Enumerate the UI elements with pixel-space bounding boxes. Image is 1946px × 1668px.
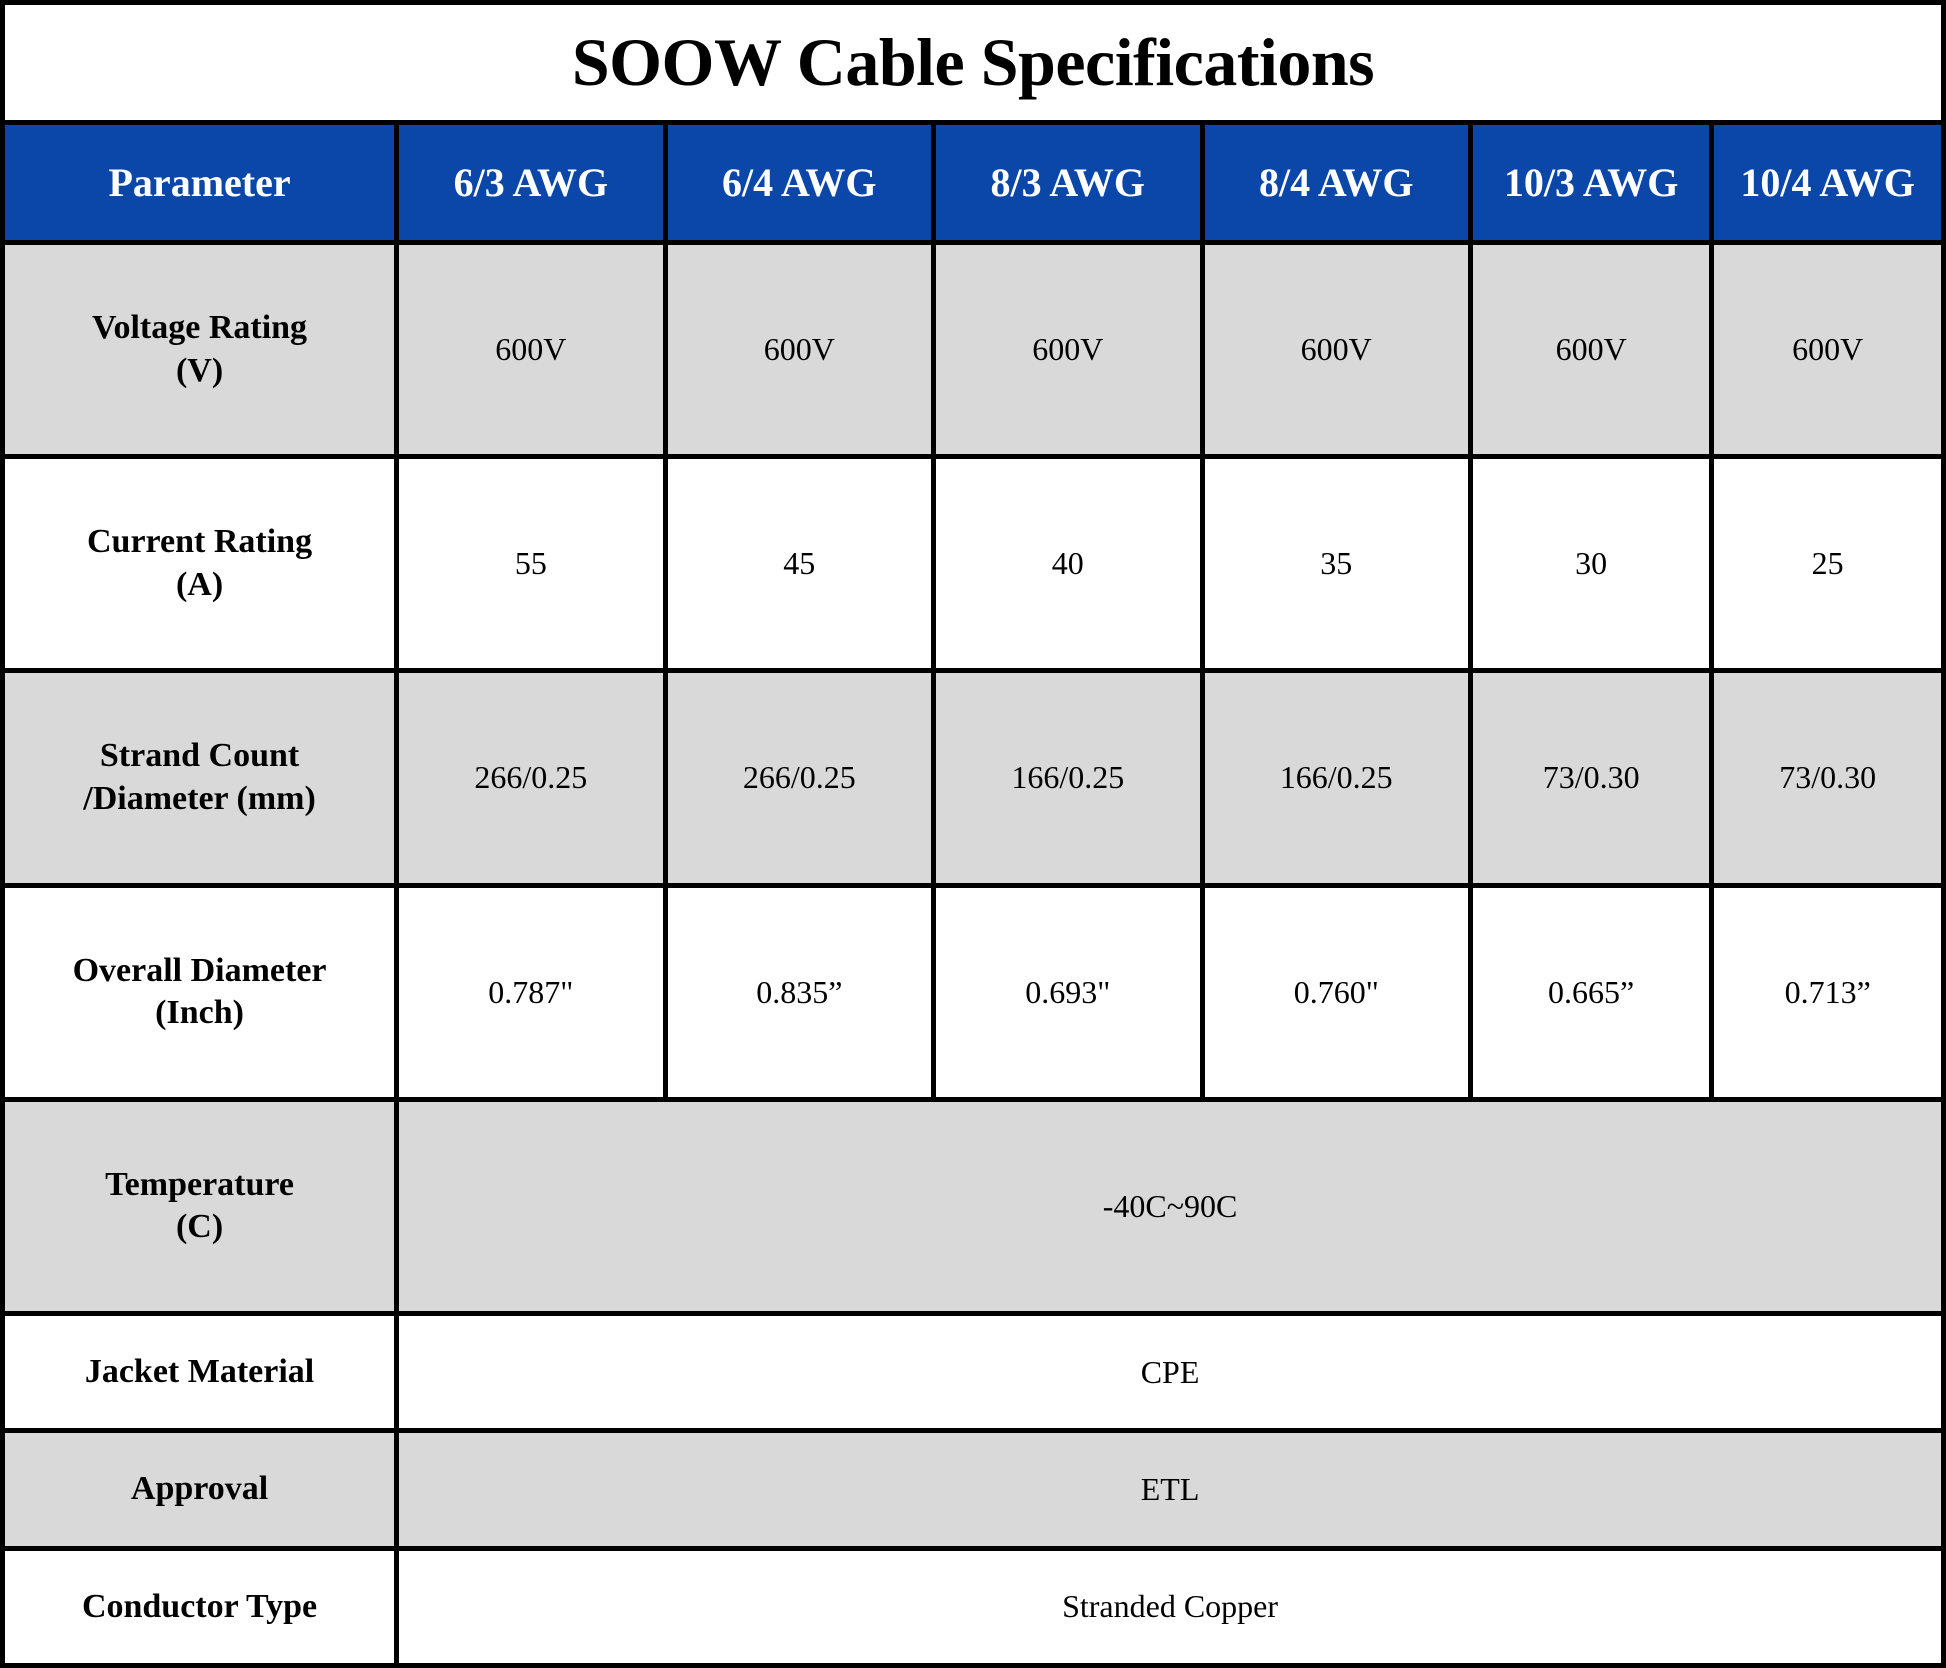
cell-strand-8-3: 166/0.25: [934, 671, 1202, 885]
column-header-8-4-awg: 8/4 AWG: [1202, 123, 1470, 243]
row-label-approval: Approval: [3, 1431, 397, 1548]
page-root: SOOW Cable Specifications Parameter 6/3 …: [0, 0, 1946, 1668]
column-header-10-3-awg: 10/3 AWG: [1470, 123, 1711, 243]
row-label-line1: Overall Diameter: [9, 950, 390, 993]
row-label-temperature: Temperature (C): [3, 1099, 397, 1313]
cell-jacket-merged: CPE: [397, 1313, 1944, 1430]
cell-strand-6-4: 266/0.25: [665, 671, 933, 885]
table-row: Voltage Rating (V) 600V 600V 600V 600V 6…: [3, 243, 1944, 457]
row-label-voltage-rating: Voltage Rating (V): [3, 243, 397, 457]
page-title: SOOW Cable Specifications: [3, 3, 1944, 123]
cell-voltage-6-4: 600V: [665, 243, 933, 457]
row-label-current-rating: Current Rating (A): [3, 457, 397, 671]
cell-current-10-3: 30: [1470, 457, 1711, 671]
title-row: SOOW Cable Specifications: [3, 3, 1944, 123]
cell-diameter-6-3: 0.787": [397, 885, 665, 1099]
column-header-8-3-awg: 8/3 AWG: [934, 123, 1202, 243]
column-header-6-4-awg: 6/4 AWG: [665, 123, 933, 243]
row-label-line1: Current Rating: [9, 521, 390, 564]
row-label-line1: Temperature: [9, 1164, 390, 1207]
row-label-line1: Approval: [9, 1468, 390, 1511]
row-label-line2: (V): [9, 350, 390, 393]
cell-strand-10-3: 73/0.30: [1470, 671, 1711, 885]
table-row: Overall Diameter (Inch) 0.787" 0.835” 0.…: [3, 885, 1944, 1099]
table-header-row: Parameter 6/3 AWG 6/4 AWG 8/3 AWG 8/4 AW…: [3, 123, 1944, 243]
table-row: Strand Count /Diameter (mm) 266/0.25 266…: [3, 671, 1944, 885]
row-label-line1: Jacket Material: [9, 1351, 390, 1394]
table-row: Jacket Material CPE: [3, 1313, 1944, 1430]
cell-voltage-8-3: 600V: [934, 243, 1202, 457]
row-label-line2: (C): [9, 1206, 390, 1249]
row-label-overall-diameter: Overall Diameter (Inch): [3, 885, 397, 1099]
row-label-jacket-material: Jacket Material: [3, 1313, 397, 1430]
row-label-line2: (Inch): [9, 992, 390, 1035]
cell-current-6-3: 55: [397, 457, 665, 671]
column-header-6-3-awg: 6/3 AWG: [397, 123, 665, 243]
cell-diameter-6-4: 0.835”: [665, 885, 933, 1099]
table-row: Approval ETL: [3, 1431, 1944, 1548]
spec-table: SOOW Cable Specifications Parameter 6/3 …: [0, 0, 1946, 1668]
row-label-line1: Voltage Rating: [9, 307, 390, 350]
cell-conductor-merged: Stranded Copper: [397, 1548, 1944, 1665]
cell-current-8-3: 40: [934, 457, 1202, 671]
cell-voltage-6-3: 600V: [397, 243, 665, 457]
column-header-10-4-awg: 10/4 AWG: [1712, 123, 1944, 243]
row-label-line2: /Diameter (mm): [9, 778, 390, 821]
cell-temperature-merged: -40C~90C: [397, 1099, 1944, 1313]
table-row: Current Rating (A) 55 45 40 35 30 25: [3, 457, 1944, 671]
row-label-strand-count: Strand Count /Diameter (mm): [3, 671, 397, 885]
row-label-conductor-type: Conductor Type: [3, 1548, 397, 1665]
column-header-parameter: Parameter: [3, 123, 397, 243]
row-label-line1: Strand Count: [9, 735, 390, 778]
cell-diameter-8-4: 0.760": [1202, 885, 1470, 1099]
cell-approval-merged: ETL: [397, 1431, 1944, 1548]
cell-voltage-10-4: 600V: [1712, 243, 1944, 457]
cell-voltage-10-3: 600V: [1470, 243, 1711, 457]
cell-diameter-10-4: 0.713”: [1712, 885, 1944, 1099]
cell-current-6-4: 45: [665, 457, 933, 671]
cell-strand-8-4: 166/0.25: [1202, 671, 1470, 885]
cell-strand-10-4: 73/0.30: [1712, 671, 1944, 885]
cell-diameter-8-3: 0.693": [934, 885, 1202, 1099]
row-label-line2: (A): [9, 564, 390, 607]
cell-current-8-4: 35: [1202, 457, 1470, 671]
cell-current-10-4: 25: [1712, 457, 1944, 671]
cell-diameter-10-3: 0.665”: [1470, 885, 1711, 1099]
cell-voltage-8-4: 600V: [1202, 243, 1470, 457]
table-row: Temperature (C) -40C~90C: [3, 1099, 1944, 1313]
cell-strand-6-3: 266/0.25: [397, 671, 665, 885]
row-label-line1: Conductor Type: [9, 1586, 390, 1629]
table-row: Conductor Type Stranded Copper: [3, 1548, 1944, 1665]
